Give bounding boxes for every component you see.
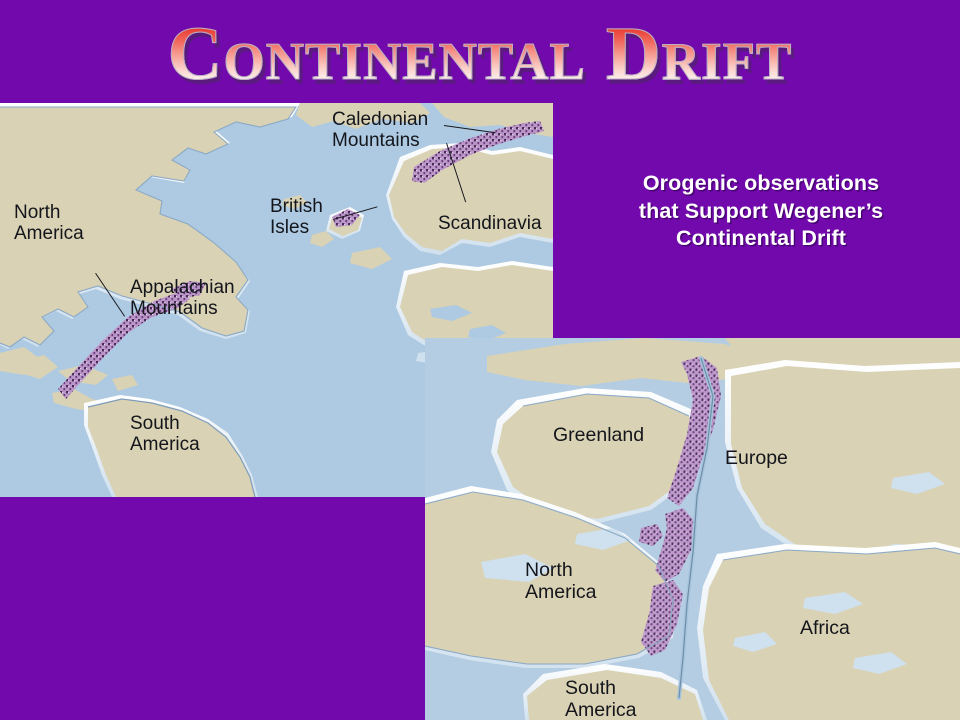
caption-line-1: Orogenic observations <box>575 170 947 198</box>
slide-canvas: Continental Drift <box>0 0 960 720</box>
caption-block: Orogenic observations that Support Wegen… <box>575 170 947 253</box>
pangaea-reconstruction-map: Greenland Europe North America South Ame… <box>425 338 960 720</box>
title-area: Continental Drift <box>0 8 960 100</box>
page-title: Continental Drift <box>162 16 799 92</box>
caption-line-3: Continental Drift <box>575 225 947 253</box>
pangaea-map-graphic <box>425 338 960 720</box>
caption-line-2: that Support Wegener’s <box>575 198 947 226</box>
